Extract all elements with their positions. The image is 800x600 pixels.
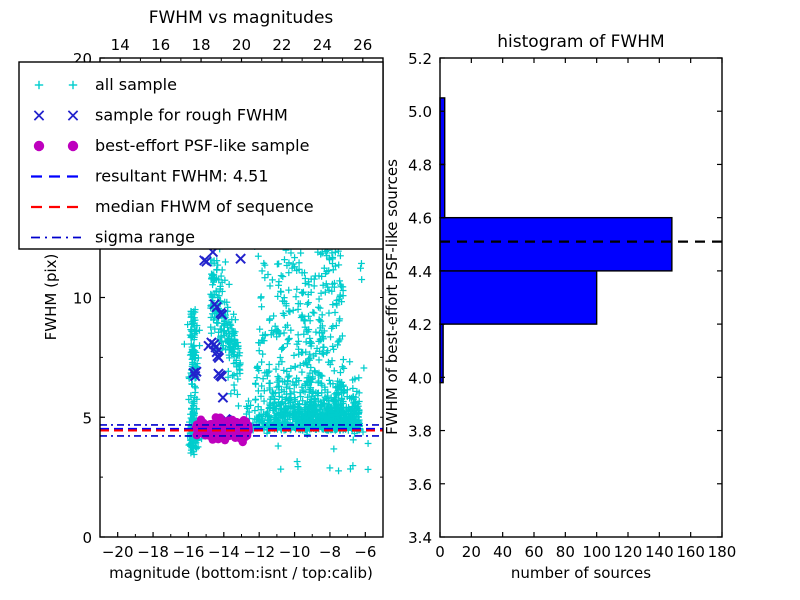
right-xtick-label: 140 xyxy=(645,543,674,561)
left-xtick-top-label: 22 xyxy=(272,36,291,54)
left-xtick-label: −14 xyxy=(208,543,240,561)
left-xtick-label: −16 xyxy=(173,543,205,561)
right-xaxis-label: number of sources xyxy=(511,564,651,582)
right-ytick-label: 4.4 xyxy=(408,263,432,281)
legend-frame xyxy=(19,62,383,249)
left-xtick-top-label: 16 xyxy=(151,36,170,54)
right-xtick-label: 180 xyxy=(708,543,737,561)
right-xtick-label: 60 xyxy=(524,543,543,561)
right-ytick-label: 4.8 xyxy=(408,156,432,174)
left-panel-title: FWHM vs magnitudes xyxy=(149,8,334,28)
left-xtick-label: −20 xyxy=(102,543,134,561)
left-xtick-top-label: 14 xyxy=(111,36,130,54)
left-xaxis-label: magnitude (bottom:isnt / top:calib) xyxy=(109,564,373,582)
legend-item-label: best-effort PSF-like sample xyxy=(95,136,309,155)
legend-item-label: resultant FWHM: 4.51 xyxy=(95,167,269,186)
right-ytick-label: 4.6 xyxy=(408,210,432,228)
left-xtick-label: −12 xyxy=(243,543,275,561)
histogram-bar xyxy=(440,218,672,271)
right-xtick-label: 40 xyxy=(493,543,512,561)
legend-item-label: sigma range xyxy=(95,228,195,247)
right-ytick-label: 3.6 xyxy=(408,476,432,494)
matplotlib-figure: FWHM vs magnitudes −20−18−16−14−12−10−8−… xyxy=(0,0,800,600)
left-yaxis-label: FWHM (pix) xyxy=(42,254,60,341)
left-ytick-label: 10 xyxy=(73,290,92,308)
left-xtick-top-label: 24 xyxy=(313,36,332,54)
left-xtick-top-label: 20 xyxy=(232,36,251,54)
left-xtick-label: −18 xyxy=(137,543,169,561)
legend-item-label: sample for rough FWHM xyxy=(95,106,288,125)
right-ytick-label: 5.2 xyxy=(408,50,432,68)
right-xtick-label: 160 xyxy=(676,543,705,561)
figure-canvas: FWHM vs magnitudes −20−18−16−14−12−10−8−… xyxy=(0,0,800,600)
legend-item-label: median FHWM of sequence xyxy=(95,197,314,216)
right-ytick-label: 4.2 xyxy=(408,316,432,334)
right-xtick-label: 80 xyxy=(556,543,575,561)
right-ytick-label: 4.0 xyxy=(408,369,432,387)
right-panel-title: histogram of FWHM xyxy=(497,32,664,52)
right-xtick-label: 100 xyxy=(582,543,611,561)
left-ytick-label: 5 xyxy=(82,409,92,427)
left-xtick-top-label: 18 xyxy=(192,36,211,54)
legend-item-label: all sample xyxy=(95,75,177,94)
left-ytick-label: 0 xyxy=(82,529,92,547)
histogram-bar xyxy=(440,164,445,217)
right-ytick-label: 3.4 xyxy=(408,529,432,547)
right-ytick-label: 5.0 xyxy=(408,103,432,121)
left-xtick-label: −8 xyxy=(319,543,341,561)
left-xtick-label: −10 xyxy=(279,543,311,561)
right-xtick-label: 120 xyxy=(614,543,643,561)
histogram-bar xyxy=(440,98,445,165)
legend-box: all samplesample for rough FWHMbest-effo… xyxy=(19,62,383,249)
histogram-bar xyxy=(440,271,597,324)
right-xtick-label: 20 xyxy=(462,543,481,561)
left-xtick-label: −6 xyxy=(354,543,376,561)
right-ytick-label: 3.8 xyxy=(408,423,432,441)
left-xtick-top-label: 26 xyxy=(353,36,372,54)
right-xtick-label: 0 xyxy=(435,543,445,561)
right-yaxis-label: FWHM of best-effort PSF-like sources xyxy=(383,159,401,435)
